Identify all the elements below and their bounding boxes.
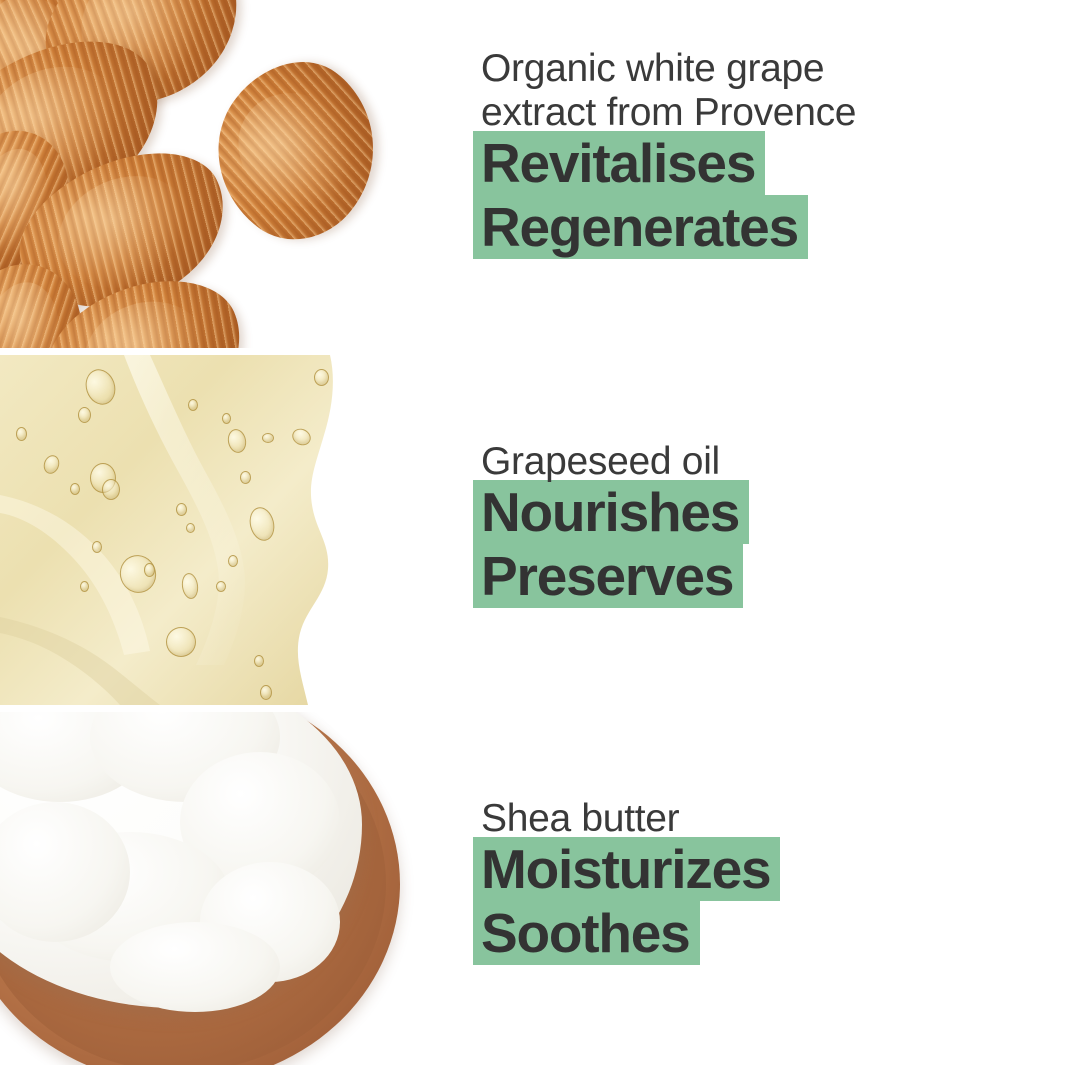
oil-bubble [254, 655, 264, 667]
oil-bubble [222, 413, 231, 424]
oil-bubble [102, 479, 120, 500]
claim-revitalises: Revitalises [473, 131, 765, 195]
claims-list-shea-butter: Moisturizes Soothes [473, 837, 780, 965]
ingredient-benefits-infographic: Organic white grape extract from Provenc… [0, 0, 1065, 1065]
oil-bubble [70, 483, 80, 495]
oil-bubble [186, 523, 195, 533]
oil-bubble [260, 685, 272, 700]
claim-soothes: Soothes [473, 901, 700, 965]
oil-bubble [16, 427, 27, 441]
almonds-image-panel [0, 0, 410, 348]
oil-bubble [314, 369, 329, 386]
oil-bubble [78, 407, 91, 423]
benefit-block-grape-extract: Organic white grape extract from Provenc… [473, 47, 856, 259]
benefit-block-grapeseed-oil: Grapeseed oil Nourishes Preserves [473, 440, 749, 608]
ingredient-name-shea-butter: Shea butter [481, 797, 780, 841]
ingredient-name-grape-extract: Organic white grape extract from Provenc… [481, 47, 856, 135]
claim-regenerates: Regenerates [473, 195, 808, 259]
oil-bubble [80, 581, 89, 592]
oil-bubble [188, 399, 198, 411]
oil-smear [0, 355, 408, 705]
oil-bubble [176, 503, 187, 516]
oil-bubble [92, 541, 102, 553]
shea-butter-image-panel [0, 712, 425, 1065]
claim-moisturizes: Moisturizes [473, 837, 780, 901]
butter-lump [110, 922, 280, 1012]
ingredient-name-grapeseed-oil: Grapeseed oil [481, 440, 749, 484]
claim-preserves: Preserves [473, 544, 743, 608]
oil-bubble [216, 581, 226, 592]
oil-bubble [166, 627, 196, 657]
oil-bubble [262, 433, 274, 443]
oil-bubble [144, 563, 155, 577]
oil-shape-svg [0, 355, 408, 705]
claims-list-grapeseed-oil: Nourishes Preserves [473, 480, 749, 608]
oil-bubble [240, 471, 251, 484]
claim-nourishes: Nourishes [473, 480, 749, 544]
oil-bubble [228, 555, 238, 567]
grapeseed-oil-image-panel [0, 355, 408, 705]
benefit-block-shea-butter: Shea butter Moisturizes Soothes [473, 797, 780, 965]
claims-list-grape-extract: Revitalises Regenerates [473, 131, 856, 259]
